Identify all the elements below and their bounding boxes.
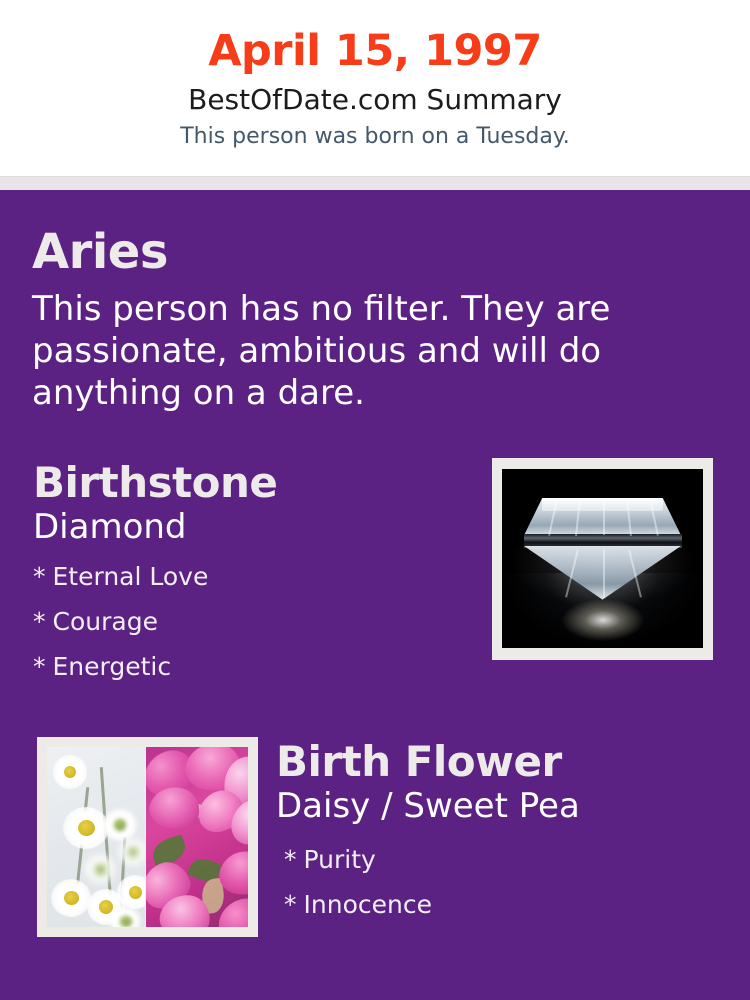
birth-flower-photo-frame [37,737,258,937]
birth-flower-section: Birth Flower Daisy / Sweet Pea *Purity *… [0,689,750,937]
birthstone-trait-label: Courage [53,607,158,636]
diamond-photo [502,469,703,648]
daisy-sweetpea-photo [47,747,248,927]
zodiac-section: Aries This person has no filter. They ar… [0,190,750,414]
birth-flower-name: Daisy / Sweet Pea [276,785,750,827]
sweet-pea-photo-half [146,747,248,927]
page-title-date: April 15, 1997 [0,24,750,78]
birth-flower-trait-label: Innocence [304,890,432,919]
daisy-photo-half [47,747,146,927]
diamond-gem-icon [524,498,682,600]
diamond-facet-line [603,499,605,536]
list-item: *Purity [284,837,750,882]
header-divider [0,176,750,190]
summary-body: Aries This person has no filter. They ar… [0,190,750,1000]
birthstone-name: Diamond [33,506,482,548]
birthstone-heading: Birthstone [33,458,482,508]
birth-flower-trait-list: *Purity *Innocence [276,837,750,927]
asterisk-icon: * [33,644,46,689]
birthstone-section: Birthstone Diamond *Eternal Love *Courag… [0,414,750,689]
list-item: *Innocence [284,882,750,927]
birthstone-trait-list: *Eternal Love *Courage *Energetic [33,554,482,689]
page-header: April 15, 1997 BestOfDate.com Summary Th… [0,0,750,176]
birthstone-photo-frame [492,458,713,660]
asterisk-icon: * [284,837,297,882]
birth-flower-text-block: Birth Flower Daisy / Sweet Pea *Purity *… [258,737,750,927]
asterisk-icon: * [284,882,297,927]
asterisk-icon: * [33,554,46,599]
list-item: *Energetic [33,644,482,689]
birthstone-text-block: Birthstone Diamond *Eternal Love *Courag… [0,458,482,689]
list-item: *Eternal Love [33,554,482,599]
diamond-sparkle [560,598,646,642]
birth-flower-trait-label: Purity [304,845,376,874]
zodiac-sign-title: Aries [32,224,718,280]
birth-weekday-note: This person was born on a Tuesday. [0,121,750,153]
list-item: *Courage [33,599,482,644]
birth-flower-heading: Birth Flower [276,737,750,787]
birthstone-trait-label: Eternal Love [53,562,209,591]
zodiac-description: This person has no filter. They are pass… [32,288,652,414]
site-name-subtitle: BestOfDate.com Summary [0,80,750,120]
birthstone-trait-label: Energetic [53,652,172,681]
diamond-facet-line [603,549,605,598]
asterisk-icon: * [33,599,46,644]
